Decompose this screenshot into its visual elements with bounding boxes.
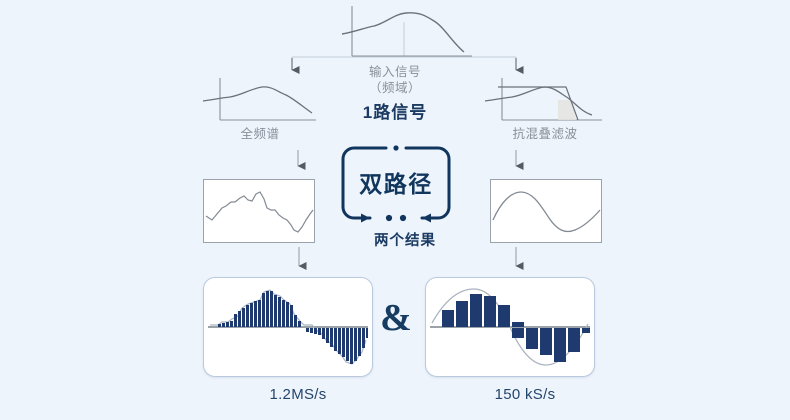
two-results-label: 两个结果 [340, 229, 470, 250]
input-caption-line1: 输入信号 [330, 64, 460, 80]
bracket-dot-right [400, 215, 406, 221]
clean-sine-line [493, 192, 600, 232]
bracket-dot-left [386, 215, 392, 221]
rate-label-low: 150 kS/s [445, 386, 605, 403]
dual-path-badge: 双路径 [340, 145, 452, 225]
high-rate-bar-chart [204, 278, 372, 376]
noisy-waveform-plot [204, 180, 314, 242]
one-path-label: 1路信号 [330, 98, 460, 123]
high-rate-bars-positive [218, 291, 301, 327]
diagram-canvas: 输入信号 （频域） 1路信号 全频谱 抗混叠滤波 [0, 0, 790, 420]
full-spectrum-plot [198, 76, 328, 128]
full-spectrum-label: 全频谱 [200, 127, 320, 142]
noisy-waveform-frame [203, 179, 315, 243]
clean-sine-plot [491, 180, 601, 242]
bracket-dot-top [393, 145, 398, 150]
input-spectrum-plot [340, 4, 480, 64]
input-caption-line2: （频域） [330, 80, 460, 96]
result-card-high-rate [203, 277, 373, 377]
anti-alias-filter-plot [480, 76, 620, 128]
low-rate-bars-positive [442, 294, 524, 327]
input-signal-caption: 输入信号 （频域） [330, 64, 460, 96]
aa-signal-curve [485, 87, 592, 115]
ampersand-separator: & [374, 296, 418, 340]
dual-path-title: 双路径 [340, 165, 452, 199]
result-card-low-rate [425, 277, 595, 377]
rate-label-high: 1.2MS/s [218, 386, 378, 403]
low-rate-bars-negative [512, 328, 590, 362]
anti-alias-filter-label: 抗混叠滤波 [480, 127, 610, 142]
clean-sine-frame [490, 179, 602, 243]
noisy-waveform-line [206, 192, 313, 232]
full-spectrum-curve [203, 87, 312, 113]
low-rate-bar-chart [426, 278, 594, 376]
high-rate-bars-negative [306, 328, 368, 364]
input-spectrum-curve [342, 13, 464, 52]
